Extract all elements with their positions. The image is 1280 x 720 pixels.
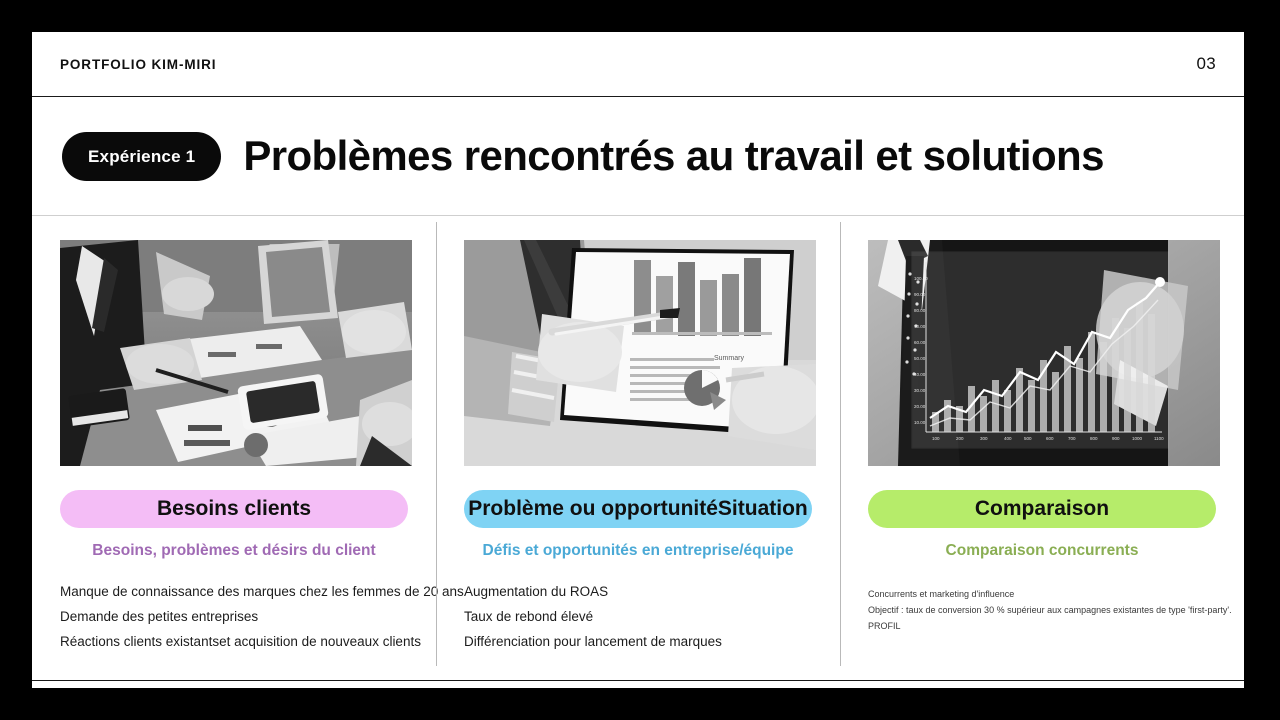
svg-text:20.00: 20.00 — [914, 404, 926, 409]
svg-text:300: 300 — [980, 436, 988, 441]
svg-text:Summary: Summary — [714, 355, 744, 362]
svg-text:1100: 1100 — [1154, 436, 1164, 441]
list-item: Demande des petites entreprises — [60, 609, 408, 626]
svg-text:60.00: 60.00 — [914, 340, 926, 345]
svg-text:400: 400 — [1004, 436, 1012, 441]
list-item: Taux de rebond élevé — [464, 609, 812, 626]
list-item: Manque de connaissance des marques chez … — [60, 584, 408, 601]
svg-text:100.00: 100.00 — [914, 276, 928, 281]
subtitle-probleme-opportunite: Défis et opportunités en entreprise/équi… — [464, 542, 812, 560]
pill-comparaison: Comparaison — [868, 490, 1216, 528]
pill-probleme-opportunite: Problème ou opportunitéSituation — [464, 490, 812, 528]
svg-text:600: 600 — [1046, 436, 1054, 441]
list-comparaison: Concurrents et marketing d'influence Obj… — [868, 588, 1216, 632]
svg-text:200: 200 — [956, 436, 964, 441]
content-columns: Besoins clients Besoins, problèmes et dé… — [32, 216, 1244, 672]
footer-divider — [32, 680, 1244, 681]
svg-text:70.00: 70.00 — [914, 324, 926, 329]
brand-label: PORTFOLIO KIM-MIRI — [60, 57, 216, 72]
svg-text:90.00: 90.00 — [914, 292, 926, 297]
subtitle-comparaison: Comparaison concurrents — [868, 542, 1216, 560]
meeting-photo — [60, 240, 412, 466]
list-item: Réactions clients existantset acquisitio… — [60, 634, 408, 651]
list-probleme-opportunite: Augmentation du ROAS Taux de rebond élev… — [464, 584, 812, 651]
svg-text:900: 900 — [1112, 436, 1120, 441]
svg-text:800: 800 — [1090, 436, 1098, 441]
svg-text:500: 500 — [1024, 436, 1032, 441]
left-notch-icon — [0, 52, 14, 76]
list-item: Augmentation du ROAS — [464, 584, 812, 601]
pill-besoins-clients: Besoins clients — [60, 490, 408, 528]
list-item: PROFIL — [868, 620, 1216, 632]
svg-text:10.00: 10.00 — [914, 420, 926, 425]
svg-text:700: 700 — [1068, 436, 1076, 441]
growth-chart-photo: 10.0020.00 30.0040.00 50.0060.00 70.0080… — [868, 240, 1220, 466]
svg-text:100: 100 — [932, 436, 940, 441]
svg-text:80.00: 80.00 — [914, 308, 926, 313]
page-number: 03 — [1196, 54, 1216, 74]
svg-text:40.00: 40.00 — [914, 372, 926, 377]
subtitle-besoins-clients: Besoins, problèmes et désirs du client — [60, 542, 408, 560]
page-title: Problèmes rencontrés au travail et solut… — [243, 132, 1104, 180]
list-item: Concurrents et marketing d'influence — [868, 588, 1216, 600]
list-besoins-clients: Manque de connaissance des marques chez … — [60, 584, 408, 651]
column-probleme-opportunite: Summary — [436, 216, 840, 672]
right-notch-icon — [1266, 52, 1280, 76]
experience-chip: Expérience 1 — [62, 132, 221, 181]
slide-header: PORTFOLIO KIM-MIRI 03 — [32, 32, 1244, 96]
slide-stage: PORTFOLIO KIM-MIRI 03 Expérience 1 Probl… — [0, 0, 1280, 720]
column-besoins-clients: Besoins clients Besoins, problèmes et dé… — [32, 216, 436, 672]
svg-text:50.00: 50.00 — [914, 356, 926, 361]
slide-card: PORTFOLIO KIM-MIRI 03 Expérience 1 Probl… — [32, 32, 1244, 688]
svg-text:1000: 1000 — [1132, 436, 1143, 441]
list-item: Objectif : taux de conversion 30 % supér… — [868, 604, 1216, 616]
title-row: Expérience 1 Problèmes rencontrés au tra… — [32, 97, 1244, 215]
svg-text:30.00: 30.00 — [914, 388, 926, 393]
list-item: Différenciation pour lancement de marque… — [464, 634, 812, 651]
report-review-photo: Summary — [464, 240, 816, 466]
column-comparaison: 10.0020.00 30.0040.00 50.0060.00 70.0080… — [840, 216, 1244, 672]
